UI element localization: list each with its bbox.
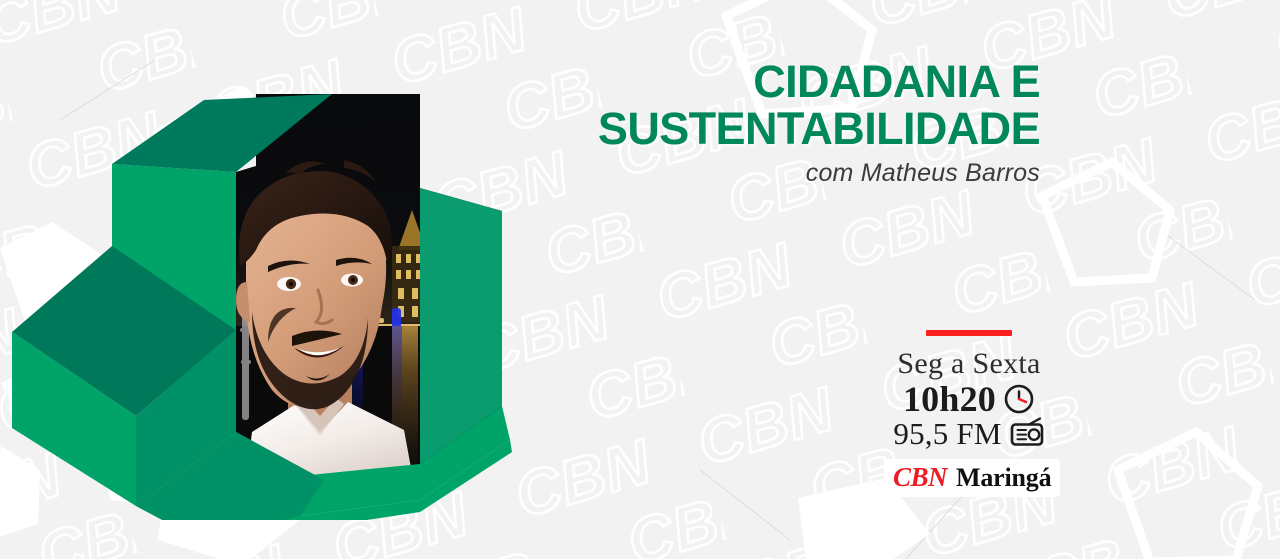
program-title-line-2: SUSTENTABILIDADE	[420, 105, 1040, 152]
schedule-frequency-label: 95,5 FM	[893, 418, 1001, 449]
schedule-days-label: Seg a Sexta	[884, 347, 1054, 381]
radio-icon	[1009, 417, 1045, 449]
program-host-subtitle: com Matheus Barros	[420, 159, 1040, 188]
broadcast-schedule-block: Seg a Sexta 10h20 95,5 FM	[884, 330, 1054, 497]
red-divider-bar	[926, 330, 1012, 336]
clock-icon	[1003, 383, 1035, 415]
station-logo: CBN Maringá	[884, 459, 1060, 497]
schedule-time-label: 10h20	[903, 381, 996, 417]
program-title-block: CIDADANIA E SUSTENTABILIDADE com Matheus…	[420, 58, 1040, 188]
schedule-time-row: 10h20	[884, 381, 1054, 417]
schedule-frequency-row: 95,5 FM	[884, 417, 1054, 449]
station-brand-label: CBN	[893, 462, 947, 493]
program-title-line-1: CIDADANIA E	[420, 58, 1040, 105]
station-city-label: Maringá	[956, 463, 1051, 493]
radio-program-banner: CBN CBN	[0, 0, 1280, 559]
